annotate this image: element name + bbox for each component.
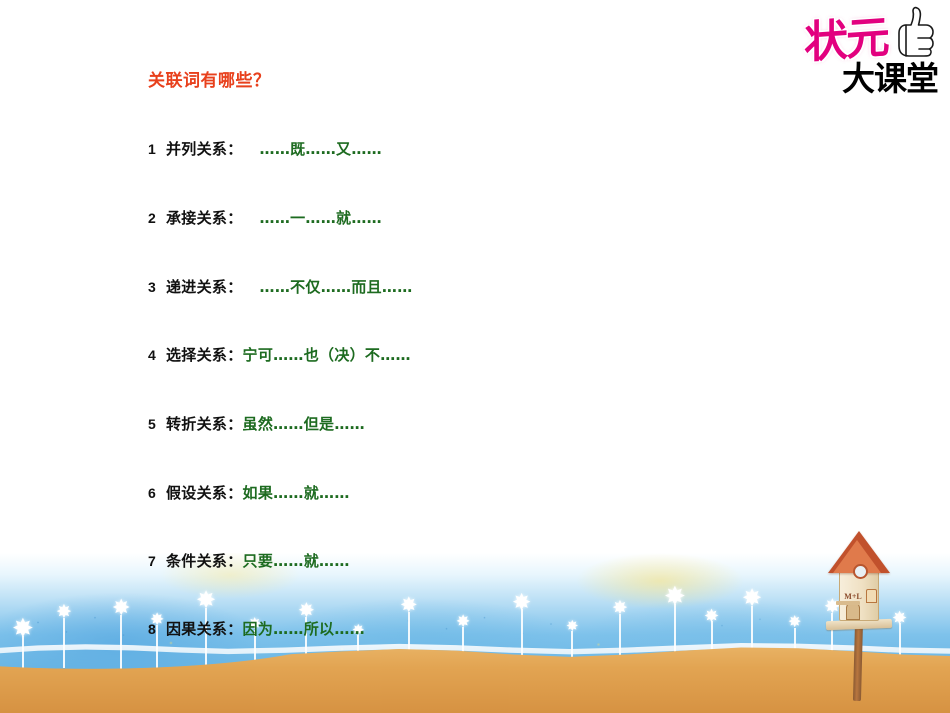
relation-row-expression: ……既……又…… — [260, 138, 382, 159]
slide-canvas: ✸ ✸ ✸ ✸ ✸ ✸ ✸ ✸ ✸ ✸ ✸ ✸ ✸ ✸ ✸ ✸ ✸ ✸ ✸ M+… — [0, 0, 950, 713]
brand-logo: 状元 大课堂 — [798, 2, 944, 98]
relation-row-number: 5 — [148, 416, 166, 432]
beach-decoration: ✸ ✸ ✸ ✸ ✸ ✸ ✸ ✸ ✸ ✸ ✸ ✸ ✸ ✸ ✸ ✸ ✸ ✸ ✸ — [0, 553, 950, 713]
relation-row-expression: 虽然……但是…… — [243, 413, 365, 434]
relation-row-number: 3 — [148, 279, 166, 295]
relation-row-number: 8 — [148, 621, 166, 637]
birdhouse-post — [853, 621, 863, 701]
relation-row-expression: ……一……就…… — [260, 207, 382, 228]
relation-row-4: 4 选择关系： 宁可……也（决）不…… — [148, 344, 411, 365]
relation-row-number: 4 — [148, 347, 166, 363]
thumbs-up-icon — [892, 6, 936, 58]
relation-row-expression: 如果……就…… — [243, 482, 350, 503]
relation-row-2: 2 承接关系： ……一……就…… — [148, 207, 382, 228]
relation-row-7: 7 条件关系： 只要……就…… — [148, 550, 350, 571]
birdhouse-sign-text: M+L — [840, 592, 866, 601]
birdhouse-entry-hole — [853, 564, 868, 579]
relation-row-label: 条件关系： — [166, 550, 243, 571]
relation-row-expression: ……不仅……而且…… — [260, 276, 413, 297]
brand-name-bottom: 大课堂 — [842, 52, 938, 100]
relation-row-label: 选择关系： — [166, 344, 243, 365]
relation-row-number: 1 — [148, 141, 166, 157]
relation-row-label: 承接关系： — [166, 207, 243, 228]
relation-row-number: 6 — [148, 485, 166, 501]
birdhouse-illustration: M+L — [820, 553, 898, 701]
relation-row-3: 3 递进关系： ……不仅……而且…… — [148, 276, 413, 297]
relation-row-5: 5 转折关系： 虽然……但是…… — [148, 413, 365, 434]
relation-row-expression: 宁可……也（决）不…… — [243, 344, 411, 365]
relation-row-label: 并列关系： — [166, 138, 243, 159]
page-title: 关联词有哪些？ — [148, 66, 271, 91]
birdhouse-ledge — [836, 601, 860, 605]
relation-row-label: 转折关系： — [166, 413, 243, 434]
relation-row-label: 假设关系： — [166, 482, 243, 503]
relation-row-number: 7 — [148, 553, 166, 569]
relation-row-6: 6 假设关系： 如果……就…… — [148, 482, 350, 503]
relation-row-label: 递进关系： — [166, 276, 243, 297]
relation-row-label: 因果关系： — [166, 618, 243, 639]
relation-row-number: 2 — [148, 210, 166, 226]
relation-row-1: 1 并列关系： ……既……又…… — [148, 138, 382, 159]
relation-row-expression: 只要……就…… — [243, 550, 350, 571]
relation-row-expression: 因为……所以…… — [243, 618, 365, 639]
relation-row-8: 8 因果关系： 因为……所以…… — [148, 618, 365, 639]
birdhouse-window — [866, 589, 877, 603]
